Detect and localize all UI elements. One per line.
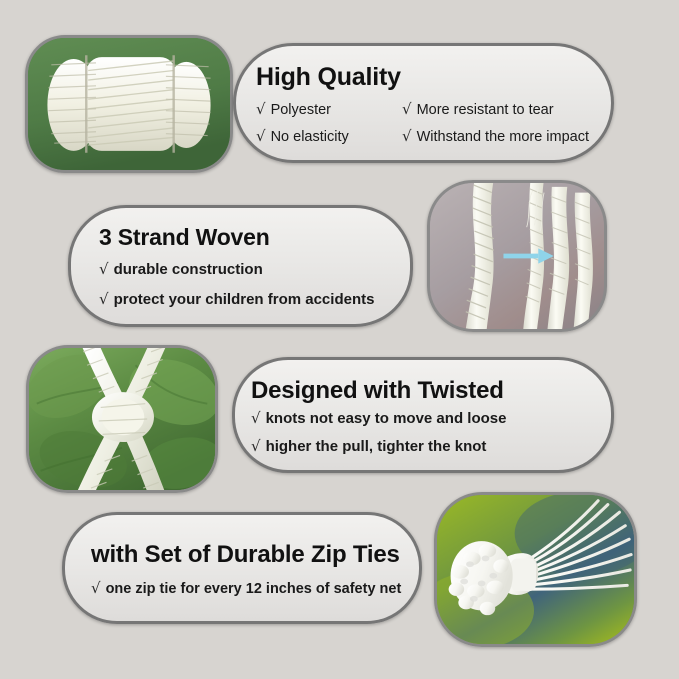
- feature-bullet: √ More resistant to tear: [402, 100, 554, 118]
- rope-strands-photo: [427, 180, 607, 332]
- radical-marker-icon: √: [256, 100, 266, 118]
- radical-marker-icon: √: [91, 579, 101, 597]
- feature-bullet: √ Withstand the more impact: [402, 127, 589, 145]
- section-headline: High Quality: [256, 63, 611, 92]
- rope-coil-art: [28, 38, 230, 170]
- feature-bullet-label: durable construction: [114, 261, 263, 278]
- feature-bullet: √ Polyester: [256, 100, 402, 118]
- feature-bullet-label: higher the pull, tighter the knot: [266, 438, 487, 455]
- designed-with-twisted-text-panel: Designed with Twisted √ knots not easy t…: [232, 357, 614, 473]
- feature-bullet-label: More resistant to tear: [417, 102, 554, 118]
- feature-bullet: √ No elasticity: [256, 127, 402, 145]
- feature-bullet: √ protect your children from accidents: [99, 290, 410, 308]
- feature-bullet-label: knots not easy to move and loose: [266, 410, 507, 427]
- radical-marker-icon: √: [99, 260, 109, 278]
- section-headline: Designed with Twisted: [251, 377, 611, 405]
- radical-marker-icon: √: [402, 127, 412, 145]
- radical-marker-icon: √: [99, 290, 109, 308]
- zip-ties-art: [437, 495, 634, 644]
- feature-bullet-label: one zip tie for every 12 inches of safet…: [106, 581, 402, 597]
- feature-bullet-list: √ one zip tie for every 12 inches of saf…: [91, 579, 419, 597]
- feature-bullet: √ higher the pull, tighter the knot: [251, 437, 611, 455]
- section-headline: 3 Strand Woven: [99, 224, 410, 251]
- feature-bullet: √ knots not easy to move and loose: [251, 409, 611, 427]
- feature-bullet-list: √ Polyester √ More resistant to tear √ N…: [256, 100, 611, 145]
- feature-bullet: √ durable construction: [99, 260, 410, 278]
- feature-bullet-list: √ knots not easy to move and loose √ hig…: [251, 409, 611, 455]
- feature-bullet-label: Polyester: [271, 102, 331, 118]
- infographic-canvas: High Quality √ Polyester √ More resistan…: [0, 0, 679, 679]
- feature-bullet-label: No elasticity: [271, 129, 349, 145]
- feature-bullet-list: √ durable construction √ protect your ch…: [99, 260, 410, 308]
- durable-zip-ties-text-panel: with Set of Durable Zip Ties √ one zip t…: [62, 512, 422, 624]
- feature-bullet: √ one zip tie for every 12 inches of saf…: [91, 579, 419, 597]
- radical-marker-icon: √: [402, 100, 412, 118]
- rope-knot-photo: [26, 345, 218, 493]
- high-quality-text-panel: High Quality √ Polyester √ More resistan…: [233, 43, 614, 163]
- section-headline: with Set of Durable Zip Ties: [91, 541, 419, 569]
- zip-ties-photo: [434, 492, 637, 647]
- feature-bullet-label: Withstand the more impact: [417, 129, 589, 145]
- feature-bullet-label: protect your children from accidents: [114, 291, 375, 308]
- rope-coil-photo: [25, 35, 233, 173]
- three-strand-woven-text-panel: 3 Strand Woven √ durable construction √ …: [68, 205, 413, 327]
- radical-marker-icon: √: [251, 409, 261, 427]
- radical-marker-icon: √: [256, 127, 266, 145]
- radical-marker-icon: √: [251, 437, 261, 455]
- rope-knot-art: [29, 348, 215, 490]
- rope-strands-art: [430, 183, 604, 329]
